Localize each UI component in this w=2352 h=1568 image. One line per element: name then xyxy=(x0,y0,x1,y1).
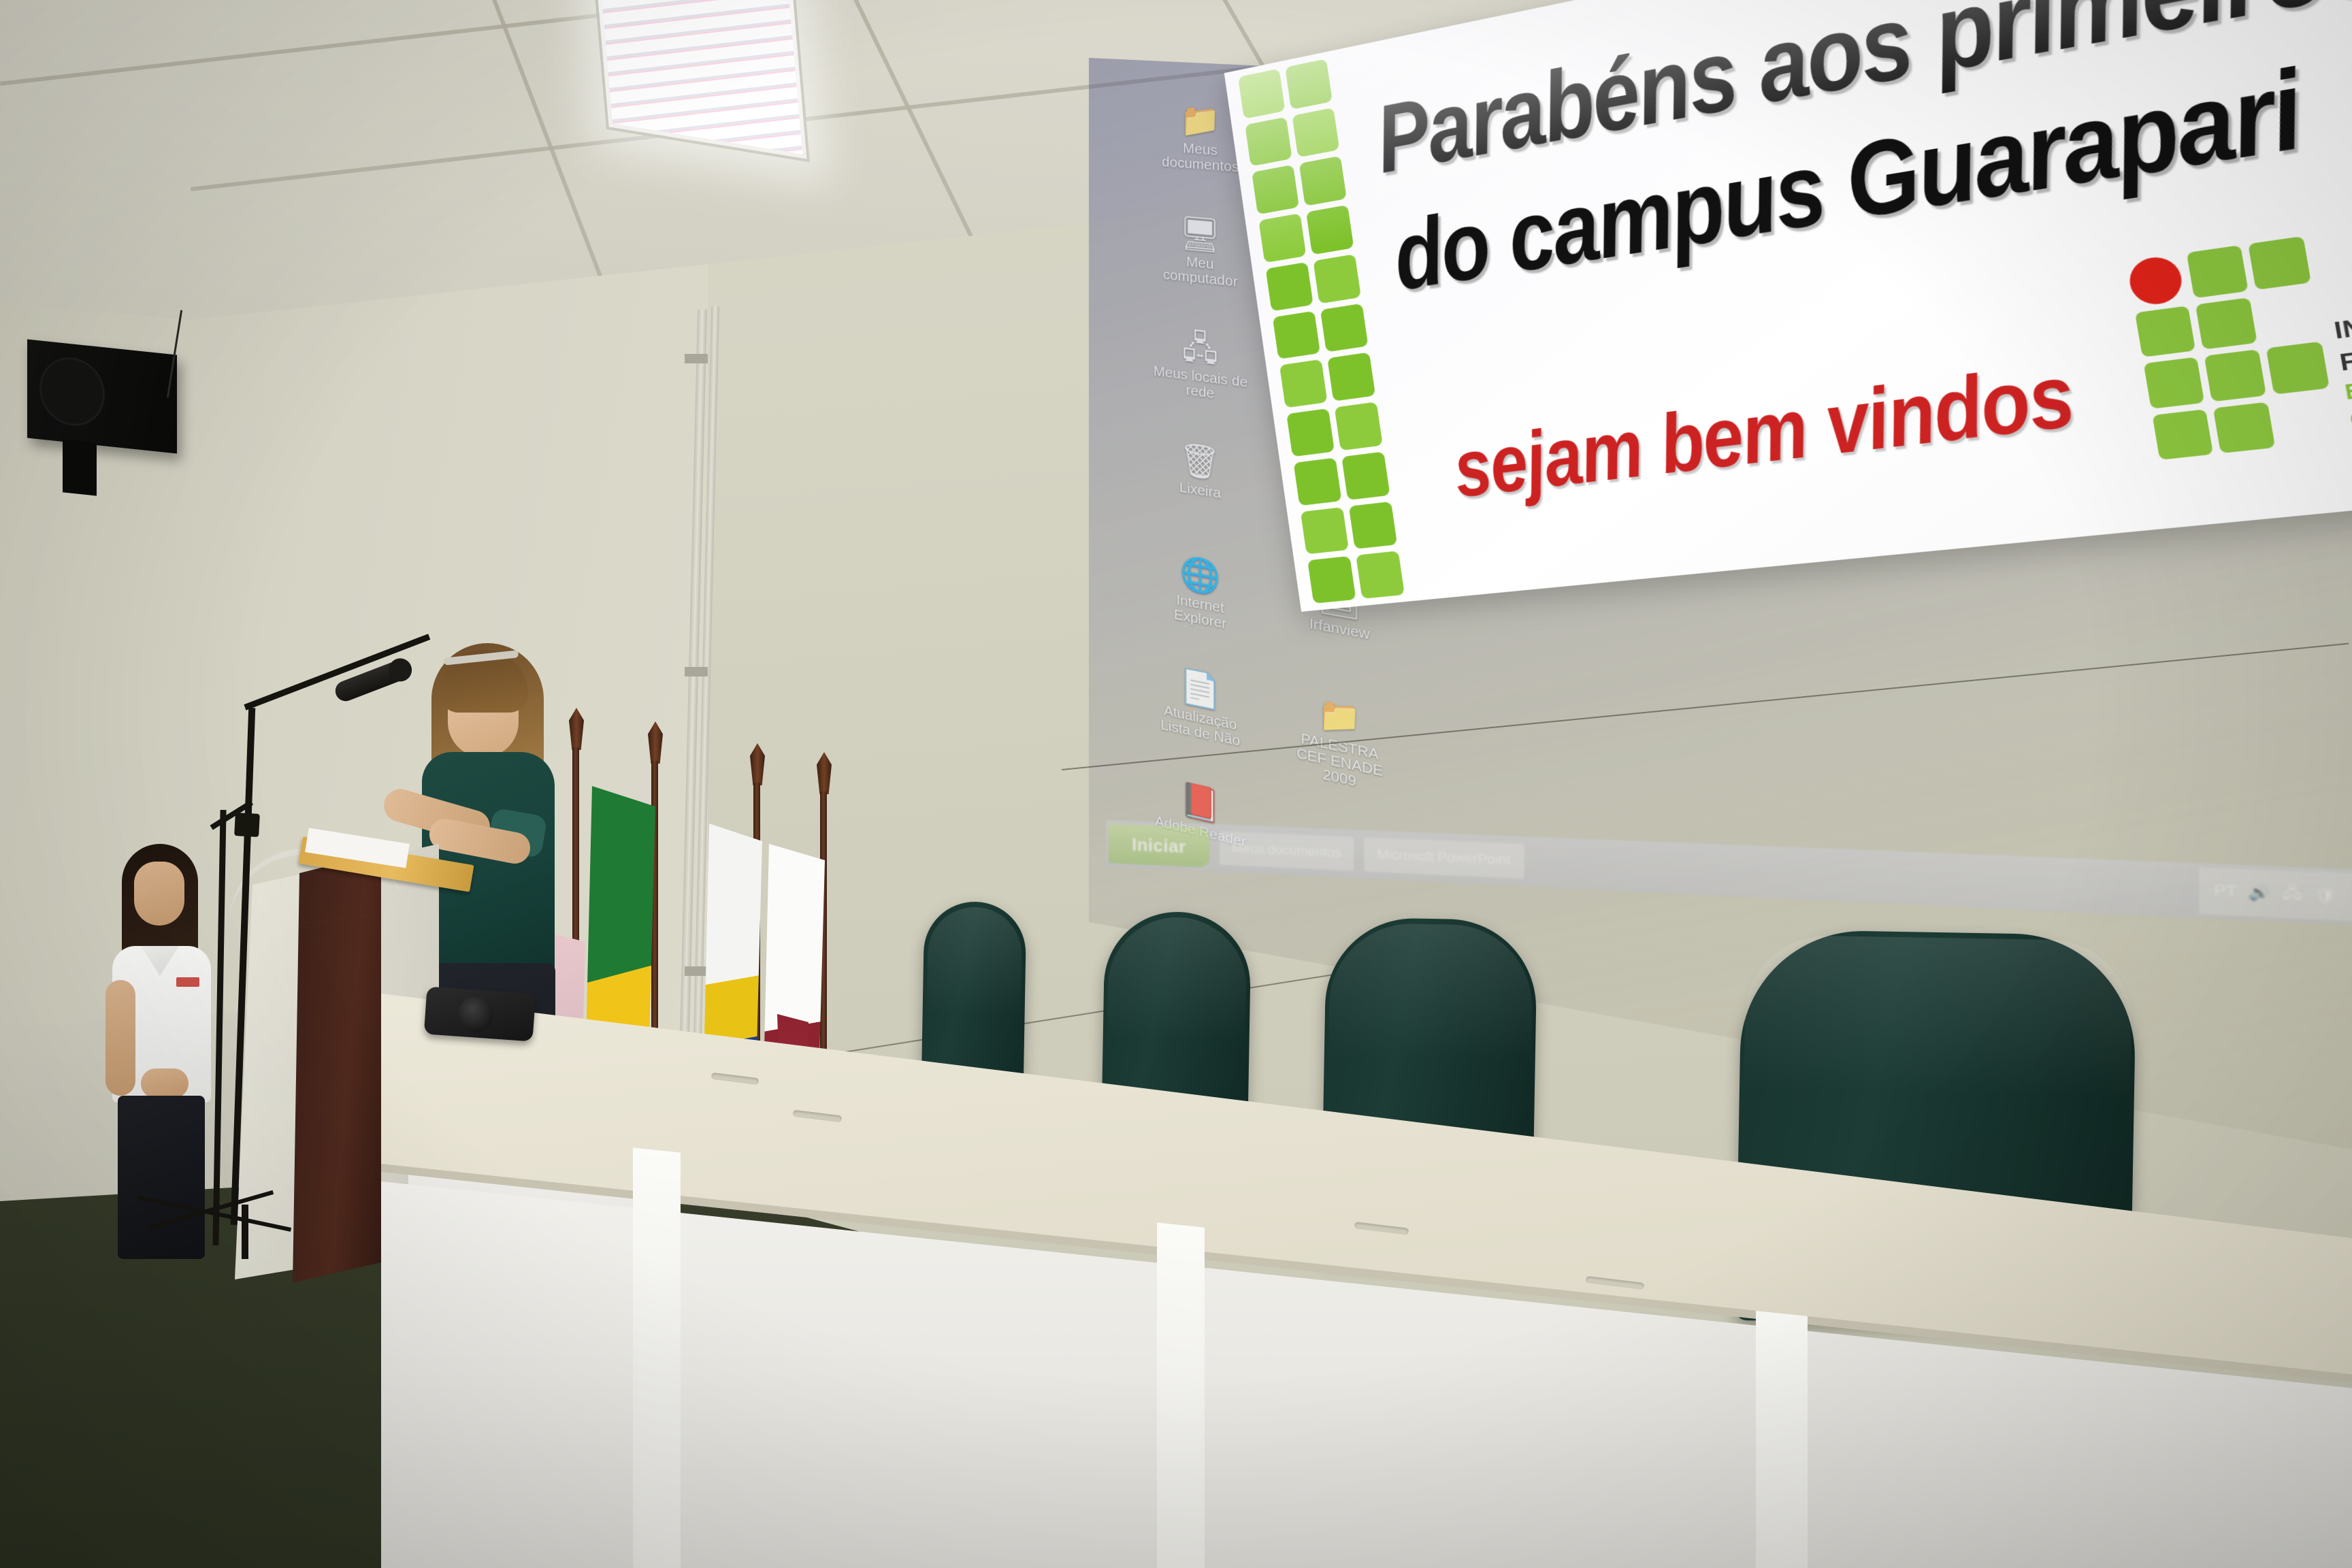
mosaic-tile xyxy=(1334,402,1383,451)
desktop-icon-meu-computador[interactable]: 🖥Meu computador xyxy=(1150,214,1251,291)
taskbar-button[interactable]: Meus documentos xyxy=(1220,832,1354,871)
mosaic-tile xyxy=(1258,214,1305,263)
tripod-leg xyxy=(242,1205,248,1259)
mosaic-tile xyxy=(1292,108,1339,158)
desktop-icon-atualiza-o-lista-de-n-o[interactable]: 📄Atualização Lista de Não xyxy=(1150,664,1251,752)
logo-line-1: INSTITUTO FEDERAL xyxy=(2332,286,2352,380)
desktop-icon-lixeira[interactable]: 🗑Lixeira xyxy=(1150,439,1251,506)
mosaic-tile xyxy=(1341,451,1390,500)
conduit-clip xyxy=(685,966,708,976)
mosaic-tile xyxy=(1273,310,1320,359)
icon-glyph: 🖥 xyxy=(1150,214,1251,257)
mosaic-tile xyxy=(1294,457,1341,505)
mosaic-tile xyxy=(1298,156,1347,206)
mosaic-tile xyxy=(1306,205,1354,255)
mosaic-tile xyxy=(1320,303,1368,353)
icon-label: Internet Explorer xyxy=(1174,592,1226,632)
start-button[interactable]: Iniciar xyxy=(1109,823,1210,868)
wall-speaker xyxy=(27,339,177,453)
volume-icon[interactable]: 🔊 xyxy=(2248,883,2270,903)
network-icon[interactable]: 🖧 xyxy=(2282,881,2302,909)
arm xyxy=(105,980,135,1096)
language-indicator: PT xyxy=(2214,883,2236,902)
mosaic-tile xyxy=(1245,117,1292,167)
system-tray[interactable]: PT 🔊 🖧 🛡 xyxy=(2199,867,2352,921)
mosaic-tile xyxy=(1252,165,1298,214)
icon-label: Meu computador xyxy=(1163,254,1238,290)
table-leg xyxy=(633,1147,681,1568)
mosaic-tile xyxy=(1307,556,1356,604)
face xyxy=(134,862,184,926)
welcome-banner: Parabéns aos primeiros alunos do campus … xyxy=(1224,0,2352,612)
desktop-icon-internet-explorer[interactable]: 🌐Internet Explorer xyxy=(1150,551,1251,637)
taskbar-button[interactable]: Microsoft PowerPoint xyxy=(1365,837,1524,879)
shirt-logo xyxy=(176,977,199,987)
table-leg xyxy=(1157,1222,1205,1568)
speaker-bracket xyxy=(63,439,97,495)
desktop-icon-palestra-cef-enade-2009[interactable]: 📁PALESTRA CEF ENADE 2009 xyxy=(1286,690,1394,798)
mosaic-tile xyxy=(1301,507,1349,555)
icon-label: Meus documentos xyxy=(1162,140,1239,176)
logo-text: INSTITUTO FEDERAL ESPÍRITO SANTO Campus … xyxy=(2332,286,2352,432)
mosaic-tile xyxy=(1348,501,1397,549)
mosaic-tile xyxy=(1266,262,1313,311)
shield-icon[interactable]: 🛡 xyxy=(2314,885,2337,906)
hands xyxy=(141,1068,189,1098)
microphone-clamp xyxy=(234,813,260,837)
conduit-clip xyxy=(685,667,708,676)
photo-scene: 📁Meus documentos🗜WinZip🖥Meu computador📁D… xyxy=(0,0,2352,1568)
trousers xyxy=(118,1096,205,1259)
desktop-icon-meus-locais-de-rede[interactable]: 🖧Meus locais de rede xyxy=(1150,327,1251,406)
banner-headline: Parabéns aos primeiros alunos do campus … xyxy=(1370,0,2352,291)
mosaic-tile xyxy=(1238,69,1285,119)
attendant-person xyxy=(105,844,214,1259)
camera-on-table xyxy=(424,987,536,1042)
ifes-logo: INSTITUTO FEDERAL ESPÍRITO SANTO Campus … xyxy=(2126,202,2352,492)
table-leg xyxy=(1756,1311,1808,1568)
mosaic-tile xyxy=(1313,254,1361,304)
mosaic-tile xyxy=(1327,353,1375,402)
mosaic-tile xyxy=(1279,359,1327,408)
conduit-clip xyxy=(685,354,708,363)
banner-subtitle: sejam bem vindos xyxy=(1448,346,2081,517)
icon-glyph: 🗑 xyxy=(1150,439,1251,487)
icon-glyph: 🌐 xyxy=(1150,551,1251,602)
mosaic-tile xyxy=(1356,551,1405,599)
mosaic-tile xyxy=(1285,59,1333,110)
mosaic-tile xyxy=(1286,408,1334,457)
